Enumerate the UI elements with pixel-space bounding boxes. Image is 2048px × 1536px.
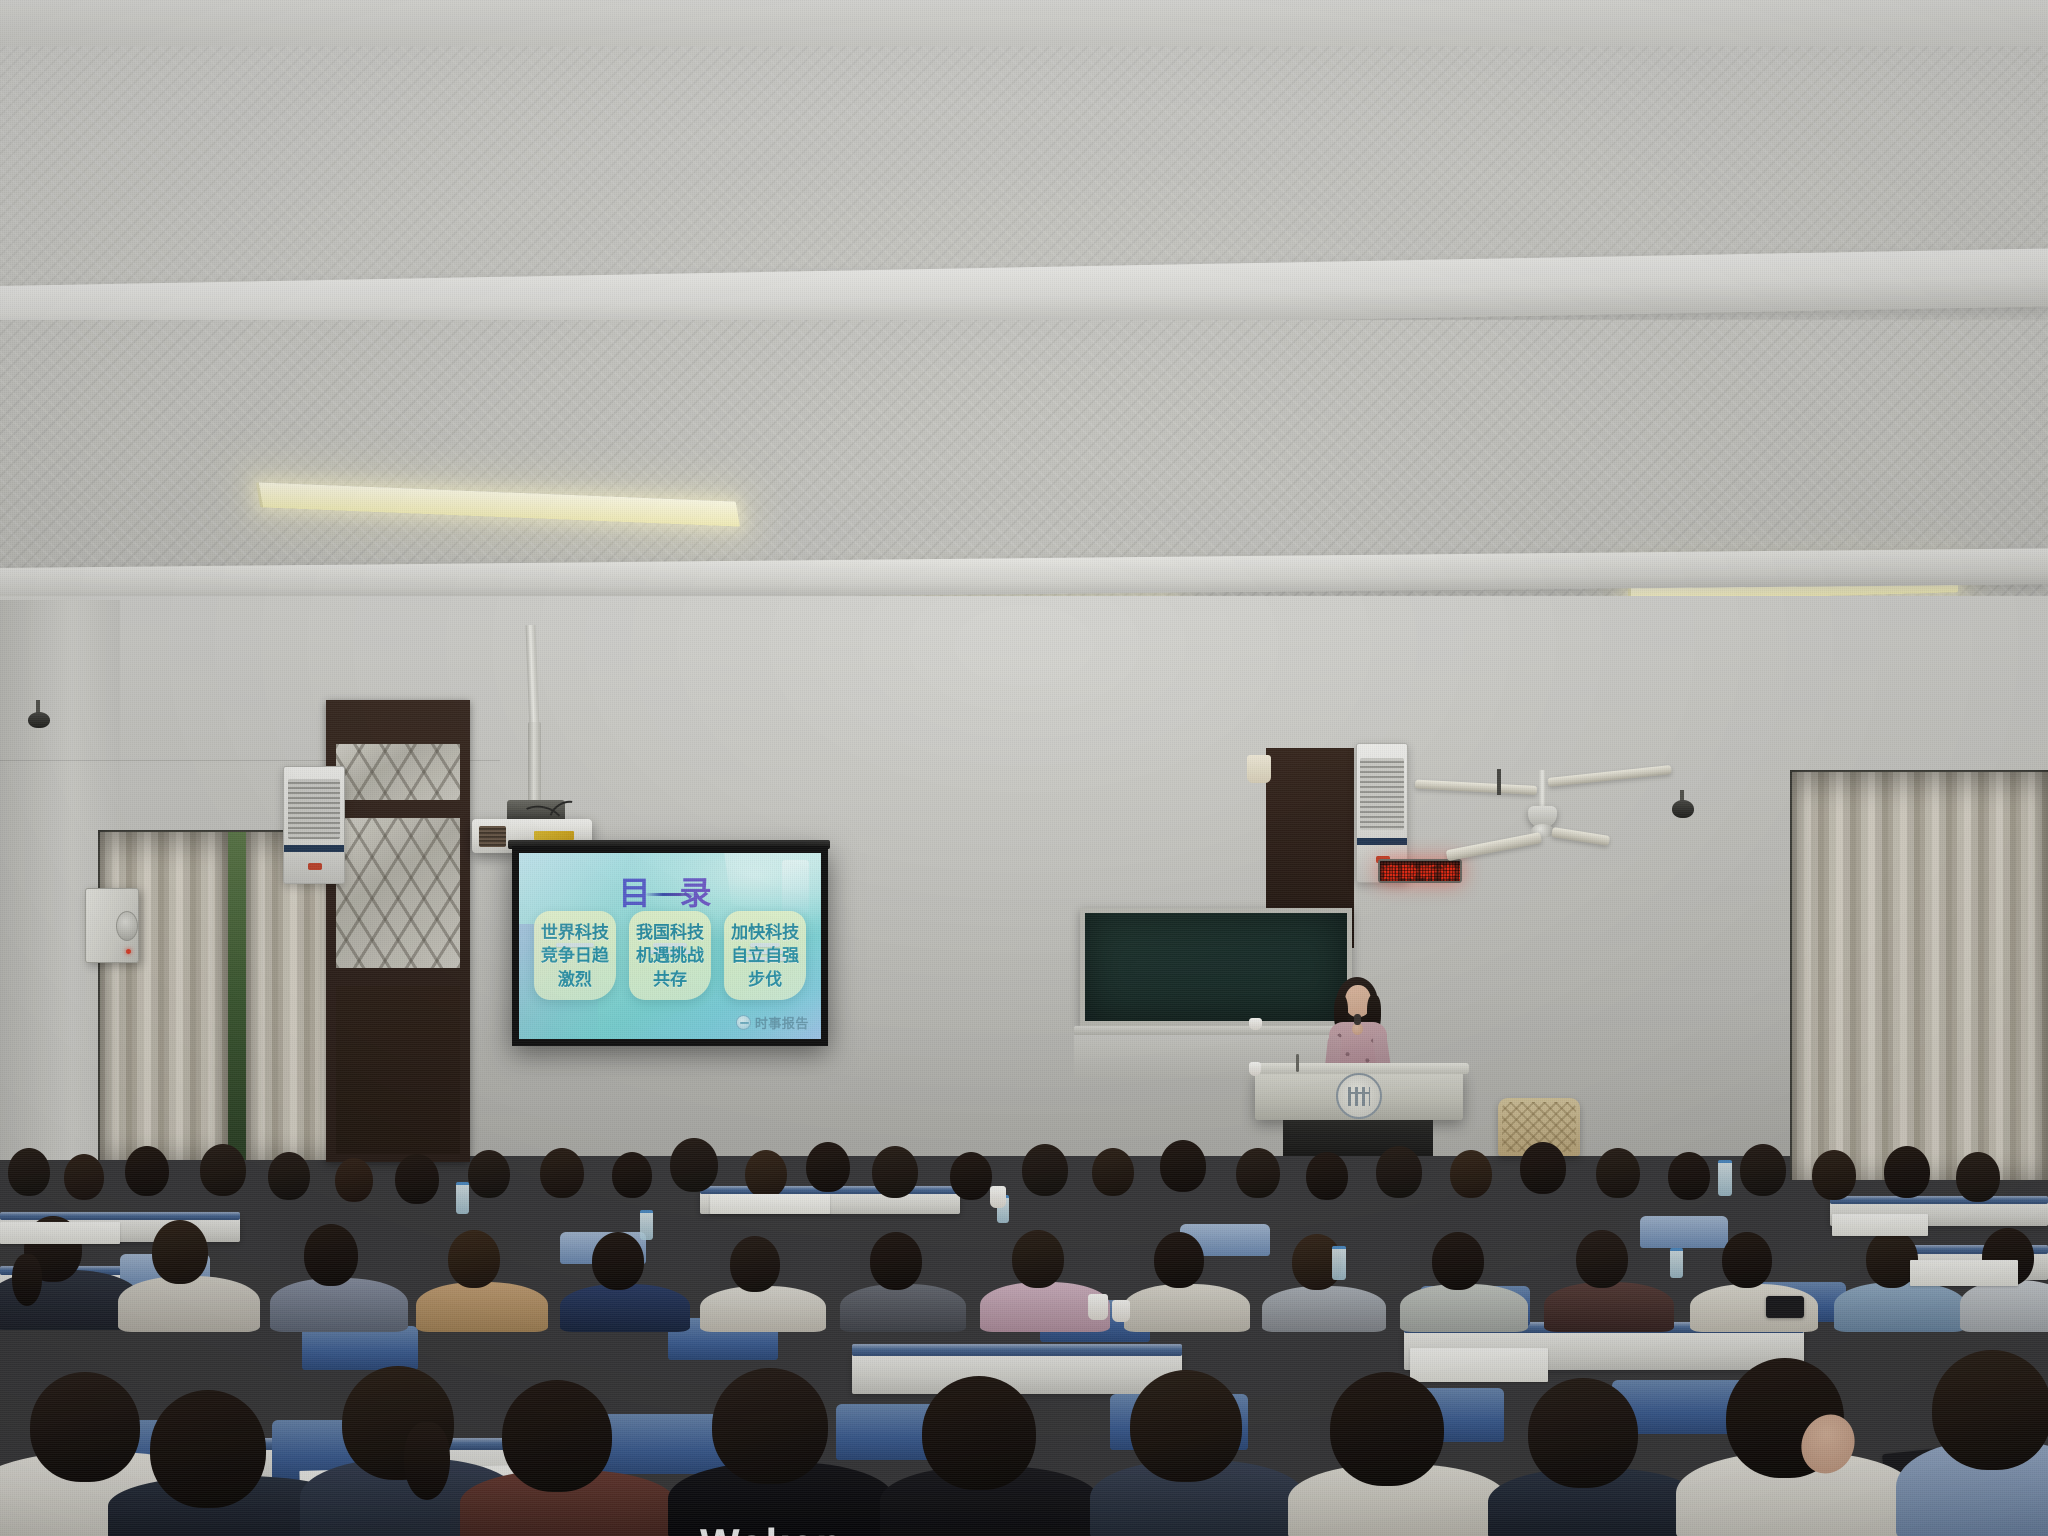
head [268,1152,310,1200]
head [1932,1350,2048,1470]
head [1668,1152,1710,1200]
right-curtain [1792,772,2048,1180]
shirt-graphic-text: Waken [700,1520,844,1536]
slide-watermark-logo: 时事报告 [736,1013,809,1032]
left-curtain-a [100,832,228,1160]
projection-screen: 目 录 世界科技 竞争日趋激烈 我 [512,846,828,1046]
chalkboard [1080,908,1352,1026]
head [1160,1140,1206,1192]
head [712,1368,828,1484]
head [8,1148,50,1196]
slide-card-3-line2: 自立自强步伐 [728,944,803,991]
window-daylight-gap [228,832,246,1160]
slide-logo-text: 时事报告 [755,1013,809,1032]
podium-cup [1249,1062,1261,1076]
head [1022,1144,1068,1196]
speaker-power-led [126,949,131,954]
notebook-6 [710,1194,830,1214]
head [540,1148,584,1198]
slide-card-1: 世界科技 竞争日趋激烈 [534,911,616,1000]
head [150,1390,266,1508]
head [395,1154,439,1204]
slide-card-2-text: 我国科技 机遇挑战共存 [632,921,707,991]
slide-title: 目 录 [519,868,821,914]
audience-row-near: Waken [0,1280,2048,1536]
head [125,1146,169,1196]
head [1596,1148,1640,1198]
head [1812,1150,1856,1200]
head [200,1144,246,1196]
presentation-slide: 目 录 世界科技 竞争日趋激烈 我 [519,853,821,1039]
head [468,1150,510,1198]
podium-university-crest-icon [1336,1073,1382,1119]
head [670,1138,718,1192]
security-camera-right [1672,800,1694,818]
led-scrolling-sign: 欢迎聆听讲座 [1378,859,1462,883]
head [152,1220,208,1284]
classroom-door[interactable] [326,700,470,1162]
head [1376,1146,1422,1198]
water-bottle-4 [1718,1160,1732,1196]
head [922,1376,1036,1490]
head [1330,1372,1444,1486]
head [304,1224,358,1286]
air-conditioner-left [283,766,345,884]
head [64,1154,104,1200]
podium-mic-stand [1296,1054,1299,1072]
security-camera-left [28,712,50,728]
head [1740,1144,1786,1196]
door-lower-grille [336,818,460,968]
slide-logo-icon [736,1015,751,1030]
ac-left-grille [288,779,341,839]
head [30,1372,140,1482]
fan-support-bracket [1497,769,1501,795]
chalk-box [1249,1018,1262,1030]
water-bottle-1 [456,1182,469,1214]
water-bottle-5 [1670,1248,1683,1278]
head [1956,1152,2000,1202]
slide-card-3-line1: 加快科技 [728,921,803,944]
fan-rod [1539,770,1546,808]
head [745,1150,787,1198]
ac-right-grille [1360,758,1404,830]
presenter-microphone [1354,1014,1361,1025]
head [612,1152,652,1198]
water-bottle-2 [640,1210,653,1240]
projector-vent [479,826,506,847]
ac-left-logo-icon [308,863,322,870]
slide-card-1-line1: 世界科技 [537,921,612,944]
lecture-hall-photo: 欢迎聆听讲座 目 录 [0,0,2048,1536]
slide-card-3-text: 加快科技 自立自强步伐 [728,921,803,991]
head [1236,1148,1280,1198]
head [1528,1378,1638,1488]
notebook-5 [0,1222,120,1244]
head [1450,1150,1492,1198]
ceiling-soffit-top [0,0,2048,46]
slide-card-3: 加快科技 自立自强步伐 [724,911,806,1000]
notebook-3 [1832,1214,1928,1236]
head [1884,1146,1930,1198]
head [950,1152,992,1200]
led-sign-text: 欢迎聆听讲座 [1378,859,1462,883]
head [502,1380,612,1492]
door-upper-glass [336,744,460,800]
head [1092,1148,1134,1196]
speaker-cone-icon [116,911,138,941]
head [1130,1370,1242,1482]
podium [1255,1072,1463,1120]
right-wall-switch-plate [1247,755,1271,783]
wall-speaker [85,888,139,963]
projector-pole-lower [528,722,541,808]
water-bottle-3 [1332,1246,1346,1280]
head [335,1158,373,1202]
slide-card-list: 世界科技 竞争日趋激烈 我国科技 机遇挑战共存 [534,911,806,1000]
head [1306,1152,1348,1200]
slide-title-underline [646,893,694,896]
paper-cup-1 [990,1186,1006,1208]
ponytail [404,1422,450,1500]
chalk-tray [1074,1026,1358,1035]
ac-left-stripe [284,845,344,852]
ac-right-stripe [1357,838,1407,845]
slide-card-1-text: 世界科技 竞争日趋激烈 [537,921,612,991]
slide-card-1-line2: 竞争日趋激烈 [537,944,612,991]
head [806,1142,850,1192]
slide-card-2-line2: 机遇挑战共存 [632,944,707,991]
slide-card-2-line1: 我国科技 [632,921,707,944]
head [1520,1142,1566,1194]
head [872,1146,918,1198]
slide-card-2: 我国科技 机遇挑战共存 [629,911,711,1000]
